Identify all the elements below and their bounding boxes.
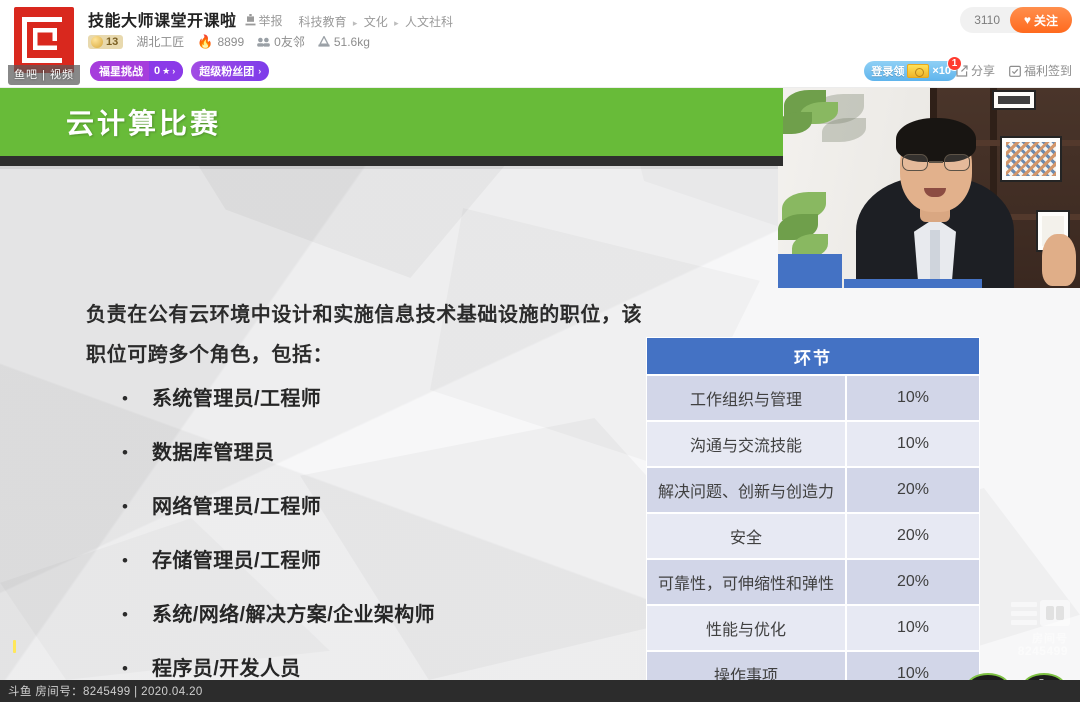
list-item: • 数据库管理员: [122, 438, 682, 492]
presenter-hand: [1042, 234, 1076, 286]
table-header-cell-section: 环节: [646, 337, 980, 375]
table-cell-value: 10%: [846, 605, 980, 651]
level-medal-icon: [91, 36, 103, 48]
level-value: 13: [106, 36, 118, 48]
list-item-label: 存储管理员/工程师: [152, 546, 321, 576]
table-cell-name: 可靠性，可伸缩性和弹性: [646, 559, 846, 605]
bullet-icon: •: [122, 438, 130, 468]
list-item-label: 系统/网络/解决方案/企业架构师: [152, 600, 435, 630]
header-actions: 分享 福利签到: [956, 62, 1072, 79]
report-button[interactable]: 举报: [245, 12, 283, 29]
breadcrumb-sep-1: ▸: [394, 18, 399, 28]
share-button[interactable]: 分享: [956, 62, 995, 79]
avatar-logo: [14, 7, 74, 73]
breadcrumb-item-2[interactable]: 人文社科: [405, 15, 453, 29]
breadcrumb-sep-0: ▸: [353, 18, 358, 28]
weight-group: 51.6kg: [318, 35, 370, 49]
table-row: 安全 20%: [646, 513, 980, 559]
webcam-overlay[interactable]: [778, 88, 1080, 288]
shelf-frame: [992, 90, 1036, 110]
chevron-right-icon: ›: [172, 66, 175, 76]
list-item-label: 系统管理员/工程师: [152, 384, 321, 414]
glasses-lens: [944, 154, 970, 171]
list-item-label: 程序员/开发人员: [152, 654, 301, 680]
share-label: 分享: [971, 62, 995, 79]
people-icon: [257, 37, 270, 47]
badge-lucky-challenge-count-group: 0 ★ ›: [149, 61, 183, 81]
table-cell-name: 性能与优化: [646, 605, 846, 651]
craftsman-logo-icon: [14, 7, 74, 73]
list-item: • 程序员/开发人员: [122, 654, 682, 680]
status-bar-text: 斗鱼 房间号：8245499 | 2020.04.20: [8, 683, 203, 699]
badge-lucky-challenge[interactable]: 福星挑战 0 ★ ›: [90, 61, 183, 81]
table-row: 操作事项 10%: [646, 651, 980, 680]
frame-artwork: [998, 96, 1030, 104]
list-item: • 存储管理员/工程师: [122, 546, 682, 600]
badge-super-fan-club[interactable]: 超级粉丝团 ›: [191, 61, 269, 81]
login-gift-label: 登录领: [871, 63, 904, 79]
checkin-label: 福利签到: [1024, 62, 1072, 79]
table-cell-name: 解决问题、创新与创造力: [646, 467, 846, 513]
slide-bullet-list: • 系统管理员/工程师 • 数据库管理员 • 网络管理员/工程师 • 存储管理员…: [122, 384, 682, 680]
share-icon: [956, 65, 968, 77]
table-row: 可靠性，可伸缩性和弹性 20%: [646, 559, 980, 605]
list-item: • 网络管理员/工程师: [122, 492, 682, 546]
follow-button-label: 关注: [1034, 12, 1058, 29]
criteria-table: 环节 工作组织与管理 10% 沟通与交流技能 10% 解决问题、创新与创造力 2…: [646, 337, 980, 680]
slide-table-bleed: [844, 279, 982, 288]
avatar-tag-label: 鱼吧 | 视频: [8, 65, 80, 85]
slide-title-bleed: [778, 88, 783, 156]
table-cell-value: 10%: [846, 375, 980, 421]
badge-lucky-challenge-label: 福星挑战: [90, 61, 149, 81]
fire-icon: 🔥: [197, 34, 213, 50]
streamer-nickname[interactable]: 湖北工匠: [136, 33, 184, 50]
shelf-frame: [1000, 136, 1062, 182]
table-cell-name: 安全: [646, 513, 846, 559]
neighbor-value: 0友邻: [274, 33, 305, 50]
table-cell-value: 10%: [846, 421, 980, 467]
breadcrumb-item-1[interactable]: 文化: [364, 15, 388, 29]
report-label: 举报: [259, 12, 283, 29]
table-row: 沟通与交流技能 10%: [646, 421, 980, 467]
list-item-label: 数据库管理员: [152, 438, 274, 468]
stream-meta-row: 13 湖北工匠 🔥 8899 0友邻 51.6kg: [88, 33, 370, 50]
frame-artwork: [1006, 142, 1056, 176]
gift-box-icon: [907, 64, 929, 78]
page-title: 技能大师课堂开课啦: [88, 7, 237, 31]
checkin-button[interactable]: 福利签到: [1009, 62, 1072, 79]
login-gift-badge[interactable]: 登录领 ×10 1: [864, 61, 957, 81]
report-icon: [245, 14, 256, 26]
video-stage[interactable]: 云计算比赛 负责在公有云环境中设计和实施信息技术基础设施的职位，该职位可跨多个角…: [0, 88, 1080, 680]
bullet-icon: •: [122, 384, 130, 414]
badge-super-fan-club-label: 超级粉丝团: [199, 63, 254, 79]
calendar-check-icon: [1009, 65, 1021, 77]
hot-value-group: 🔥 8899: [197, 34, 244, 50]
heart-icon: ♥: [1024, 13, 1031, 27]
status-bar: 斗鱼 房间号：8245499 | 2020.04.20: [0, 680, 1080, 702]
table-cell-name: 操作事项: [646, 651, 846, 680]
badge-row: 福星挑战 0 ★ › 超级粉丝团 ›: [90, 61, 269, 81]
badge-lucky-challenge-count: 0: [154, 65, 160, 77]
scale-icon: [318, 36, 330, 47]
slide-left-marker: [13, 640, 16, 653]
table-cell-value: 20%: [846, 513, 980, 559]
hot-value: 8899: [217, 35, 244, 49]
table-cell-value: 10%: [846, 651, 980, 680]
star-icon: ★: [162, 66, 170, 77]
follow-button[interactable]: ♥ 关注: [1010, 7, 1072, 33]
slide-title: 云计算比赛: [66, 102, 221, 142]
follow-group: 3110 ♥ 关注: [960, 7, 1072, 33]
slide-table-bleed: [778, 254, 842, 288]
presenter-glasses: [902, 154, 970, 171]
bullet-icon: •: [122, 654, 130, 680]
bullet-icon: •: [122, 546, 130, 576]
title-row: 技能大师课堂开课啦 举报 科技教育 ▸ 文化 ▸ 人文社科: [88, 7, 453, 31]
follow-count: 3110: [974, 13, 1000, 27]
neighbor-group: 0友邻: [257, 33, 305, 50]
bullet-icon: •: [122, 600, 130, 630]
stream-header: 鱼吧 | 视频 技能大师课堂开课啦 举报 科技教育 ▸ 文化 ▸ 人文社科 13…: [0, 0, 1080, 88]
list-item: • 系统/网络/解决方案/企业架构师: [122, 600, 682, 654]
table-row: 工作组织与管理 10%: [646, 375, 980, 421]
glasses-bridge: [929, 161, 943, 163]
table-cell-name: 沟通与交流技能: [646, 421, 846, 467]
slide-paragraph: 负责在公有云环境中设计和实施信息技术基础设施的职位，该职位可跨多个角色，包括：: [86, 295, 646, 375]
list-item-label: 网络管理员/工程师: [152, 492, 321, 522]
table-row: 性能与优化 10%: [646, 605, 980, 651]
slide-underline-bleed: [778, 156, 783, 166]
breadcrumb-item-0[interactable]: 科技教育: [299, 15, 347, 29]
chevron-right-icon: ›: [258, 66, 261, 76]
table-header-row: 环节: [646, 337, 980, 375]
list-item: • 系统管理员/工程师: [122, 384, 682, 438]
level-badge: 13: [88, 35, 123, 49]
table-cell-name: 工作组织与管理: [646, 375, 846, 421]
table-cell-value: 20%: [846, 467, 980, 513]
table-cell-value: 20%: [846, 559, 980, 605]
weight-value: 51.6kg: [334, 35, 370, 49]
glasses-lens: [902, 154, 928, 171]
avatar[interactable]: 鱼吧 | 视频: [8, 3, 80, 85]
bullet-icon: •: [122, 492, 130, 522]
breadcrumb: 科技教育 ▸ 文化 ▸ 人文社科: [299, 13, 453, 30]
table-row: 解决问题、创新与创造力 20%: [646, 467, 980, 513]
